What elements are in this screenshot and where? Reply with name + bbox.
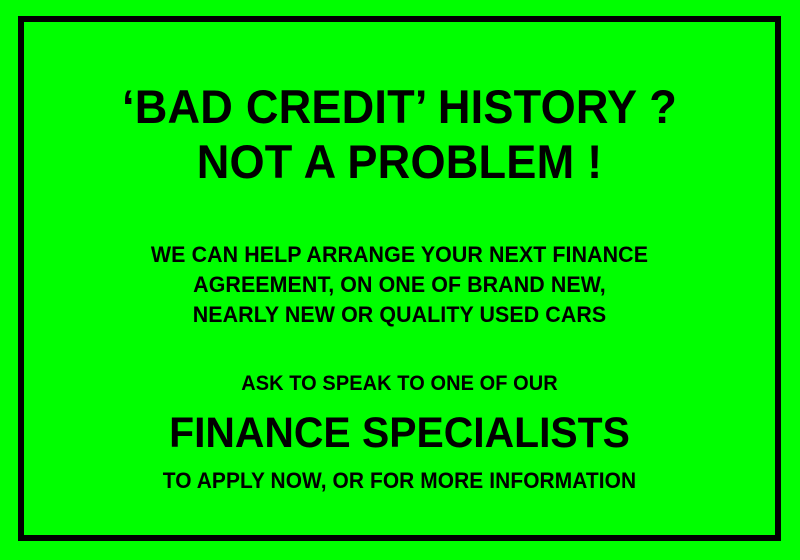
cta-footer-text: TO APPLY NOW, OR FOR MORE INFORMATION [43, 467, 756, 496]
headline-line-1: ‘BAD CREDIT’ HISTORY ? [39, 80, 760, 135]
body-line-2: AGREEMENT, ON ONE OF BRAND NEW, [43, 270, 756, 300]
headline-line-2: NOT A PROBLEM ! [39, 135, 760, 190]
cta-headline-text: FINANCE SPECIALISTS [43, 409, 756, 457]
headline-block: ‘BAD CREDIT’ HISTORY ? NOT A PROBLEM ! [24, 80, 775, 190]
advertisement-poster: ‘BAD CREDIT’ HISTORY ? NOT A PROBLEM ! W… [0, 0, 800, 560]
poster-content: ‘BAD CREDIT’ HISTORY ? NOT A PROBLEM ! W… [24, 22, 775, 535]
body-paragraph-block: WE CAN HELP ARRANGE YOUR NEXT FINANCE AG… [24, 240, 775, 330]
cta-lead-text: ASK TO SPEAK TO ONE OF OUR [43, 370, 756, 397]
body-line-1: WE CAN HELP ARRANGE YOUR NEXT FINANCE [43, 240, 756, 270]
call-to-action-block: ASK TO SPEAK TO ONE OF OUR FINANCE SPECI… [24, 370, 775, 496]
body-line-3: NEARLY NEW OR QUALITY USED CARS [43, 300, 756, 330]
